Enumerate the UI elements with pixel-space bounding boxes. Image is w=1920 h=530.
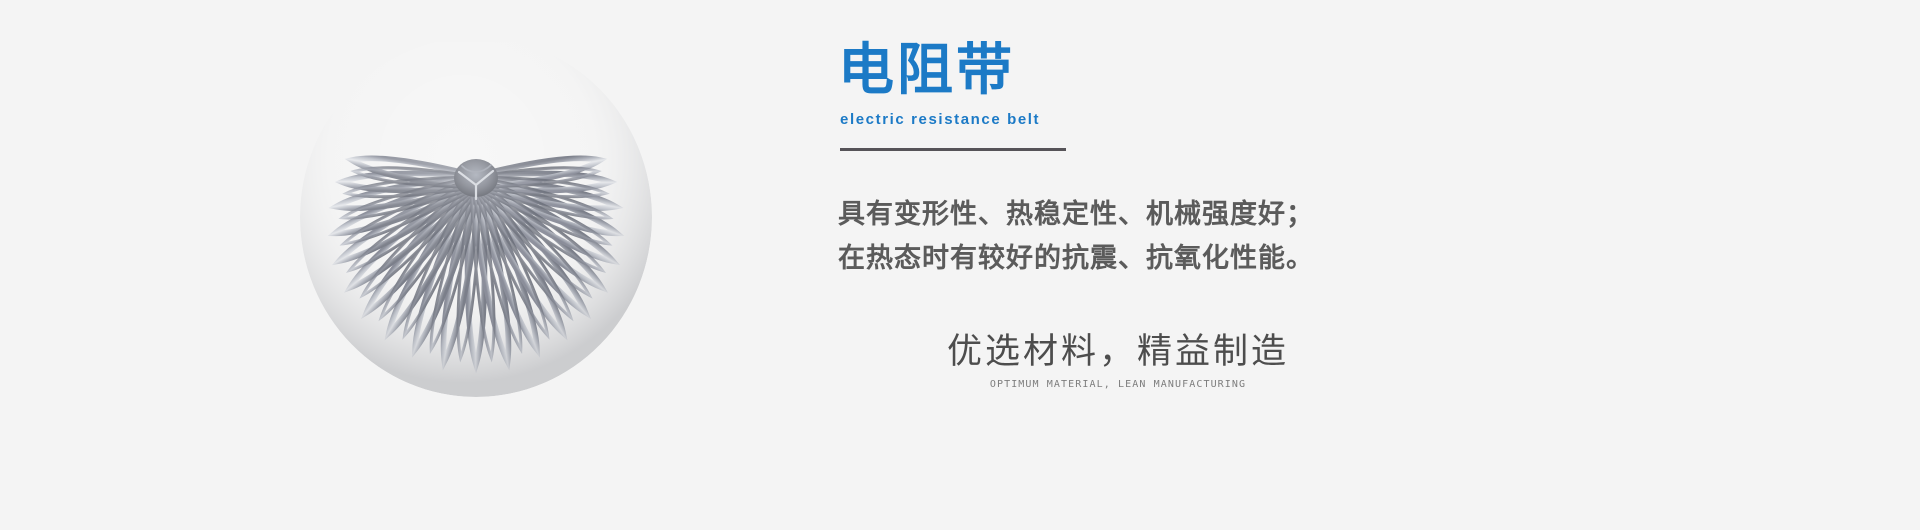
description-block: 具有变形性、热稳定性、机械强度好； 在热态时有较好的抗震、抗氧化性能。 bbox=[838, 192, 1478, 280]
tagline-block: 优选材料，精益制造 OPTIMUM MATERIAL, LEAN MANUFAC… bbox=[938, 330, 1298, 392]
page-title: 电阻带 bbox=[838, 40, 1066, 100]
title-divider bbox=[840, 148, 1066, 151]
product-image bbox=[296, 42, 656, 412]
description-line-1: 具有变形性、热稳定性、机械强度好； bbox=[838, 192, 1478, 236]
tagline-english: OPTIMUM MATERIAL, LEAN MANUFACTURING bbox=[938, 378, 1298, 392]
tagline-chinese: 优选材料，精益制造 bbox=[938, 330, 1298, 374]
product-banner: 电阻带 electric resistance belt 具有变形性、热稳定性、… bbox=[0, 0, 1920, 530]
description-line-2: 在热态时有较好的抗震、抗氧化性能。 bbox=[838, 236, 1478, 280]
heading-block: 电阻带 electric resistance belt bbox=[838, 40, 1066, 151]
page-subtitle: electric resistance belt bbox=[840, 110, 1066, 130]
banner-content: 电阻带 electric resistance belt 具有变形性、热稳定性、… bbox=[838, 40, 1838, 500]
